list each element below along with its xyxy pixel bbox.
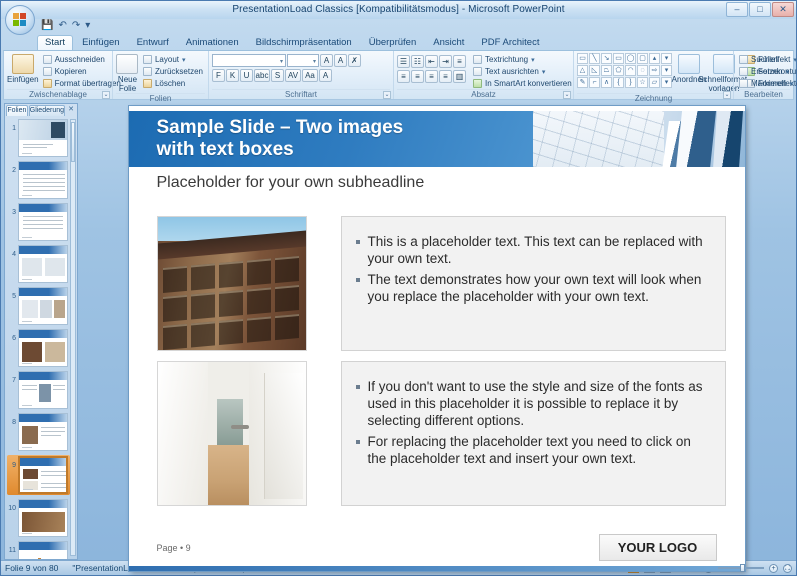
paragraph-dialog-launcher[interactable]: ⌄ <box>563 91 571 99</box>
list-item[interactable]: 1 <box>7 119 70 157</box>
paste-button[interactable]: Einfügen <box>7 53 39 84</box>
list-item[interactable]: 6 <box>7 329 70 367</box>
window-title: PresentationLoad Classics [Kompatibilitä… <box>1 4 796 15</box>
customize-qat-icon[interactable]: ▾ <box>85 20 90 32</box>
numbering-button[interactable]: ☷ <box>411 55 424 68</box>
ribbon: Einfügen Ausschneiden Kopieren Format üb… <box>3 50 794 100</box>
zoom-slider[interactable] <box>718 567 764 569</box>
scrollbar-knob[interactable] <box>71 122 75 162</box>
bullets-button[interactable]: ☰ <box>397 55 410 68</box>
clipboard-dialog-launcher[interactable]: ⌄ <box>102 91 110 99</box>
font-color-button[interactable]: A <box>319 69 332 82</box>
thumbnail-number: 1 <box>7 119 16 132</box>
replace-label: Ersetzen <box>751 67 783 76</box>
arrange-icon <box>678 54 700 74</box>
underline-button[interactable]: U <box>240 69 253 82</box>
shapes-scroll-up-icon[interactable]: ▴ <box>649 53 660 64</box>
window-controls: – □ ✕ <box>726 2 794 17</box>
current-slide[interactable]: Sample Slide – Two images with text boxe… <box>129 106 745 571</box>
copy-icon <box>43 67 52 76</box>
drawing-dialog-launcher[interactable]: ⌄ <box>723 91 731 99</box>
thumbnail-number: 7 <box>7 371 16 384</box>
shapes-gallery-more-icon[interactable]: ▾ <box>661 77 672 88</box>
line-spacing-button[interactable]: ≡ <box>453 55 466 68</box>
delete-icon <box>143 79 152 88</box>
tab-animationen[interactable]: Animationen <box>178 35 247 50</box>
workspace: Folien Gliederung ✕ 1 2 <box>1 100 796 560</box>
align-text-chevron-down-icon: ▾ <box>542 68 546 76</box>
panel-tab-slides[interactable]: Folien <box>6 105 28 116</box>
shape-line-icon[interactable]: ╲ <box>589 53 600 64</box>
logo-placeholder[interactable]: YOUR LOGO <box>599 534 717 561</box>
close-button[interactable]: ✕ <box>772 2 794 17</box>
thumbnail-6[interactable] <box>18 329 68 367</box>
font-group-label: Schriftart <box>212 89 390 99</box>
ribbon-group-drawing: ▭ ╲ ↘ ▭ ◯ ▢ ▴ ▾ △ ◺ ⏢ ⬠ ◠ ◌ ⇨ ▾ ✎ <box>573 51 733 99</box>
decrease-indent-button[interactable]: ⇤ <box>425 55 438 68</box>
shape-block-arrow-icon[interactable]: ⇨ <box>649 65 660 76</box>
font-size-chevron-down-icon: ▾ <box>313 58 316 65</box>
zoom-slider-knob[interactable] <box>740 564 745 572</box>
tab-start[interactable]: Start <box>37 35 73 50</box>
convert-smartart-button[interactable]: In SmartArt konvertieren <box>471 78 574 89</box>
slide-title: Sample Slide – Two images with text boxe… <box>157 117 404 161</box>
image-placeholder-building[interactable] <box>157 216 307 351</box>
clear-formatting-button[interactable]: ✗ <box>348 54 361 67</box>
list-item[interactable]: 7 <box>7 371 70 409</box>
paragraph-group-label: Absatz <box>397 89 570 99</box>
list-item[interactable]: 4 <box>7 245 70 283</box>
bullet-square-icon <box>356 385 360 389</box>
slide-page-number: Page • 9 <box>157 543 191 553</box>
bullet-item: If you don't want to use the style and s… <box>356 378 709 429</box>
text-placeholder-2[interactable]: If you don't want to use the style and s… <box>341 361 726 506</box>
shapes-gallery[interactable]: ▭ ╲ ↘ ▭ ◯ ▢ ▴ ▾ △ ◺ ⏢ ⬠ ◠ ◌ ⇨ ▾ ✎ <box>577 53 672 88</box>
building-windows <box>163 256 299 350</box>
building-shape-2 <box>712 111 743 167</box>
quick-styles-icon <box>713 54 735 74</box>
reset-icon <box>143 67 152 76</box>
cut-label: Ausschneiden <box>55 55 105 64</box>
door-handle <box>231 425 249 429</box>
zoom-in-button[interactable]: + <box>769 564 778 573</box>
shape-angle-icon[interactable]: ∧ <box>601 77 612 88</box>
shape-star-icon[interactable]: ☆ <box>637 77 648 88</box>
shape-rectangle-icon[interactable]: ▭ <box>613 53 624 64</box>
replace-button[interactable]: Ersetzen ▾ <box>737 66 795 77</box>
smartart-icon <box>473 79 482 88</box>
bullet-item: The text demonstrates how your own text … <box>356 271 709 305</box>
thumbnail-7[interactable] <box>18 371 68 409</box>
thumbnail-11[interactable] <box>18 541 68 559</box>
shape-right-triangle-icon[interactable]: ◺ <box>589 65 600 76</box>
panel-tabs: Folien Gliederung ✕ <box>5 104 77 116</box>
tab-ueberpruefen[interactable]: Überprüfen <box>361 35 425 50</box>
shape-brace-left-icon[interactable]: { <box>613 77 624 88</box>
ribbon-group-editing: Suchen Ersetzen ▾ Markieren ▾ Bearbeiten <box>733 51 793 99</box>
thumbnail-number: 4 <box>7 245 16 258</box>
list-item[interactable]: 11 <box>7 541 70 559</box>
shape-trapezoid-icon[interactable]: ⏢ <box>601 65 612 76</box>
italic-button[interactable]: K <box>226 69 239 82</box>
grow-font-button[interactable]: A <box>320 54 333 67</box>
list-item[interactable]: 10 <box>7 499 70 537</box>
delete-label: Löschen <box>155 79 185 88</box>
shape-triangle-icon[interactable]: △ <box>577 65 588 76</box>
bullet-item: For replacing the placeholder text you n… <box>356 433 709 467</box>
ribbon-group-font: ▾ ▾ A A ✗ F K U abc S AV <box>208 51 393 99</box>
new-slide-label: Neue Folie <box>118 75 137 93</box>
shape-banner-icon[interactable]: ▱ <box>649 77 660 88</box>
thumbnail-list[interactable]: 1 2 <box>5 116 77 559</box>
shape-brace-right-icon[interactable]: } <box>625 77 636 88</box>
hallway-left-wall <box>158 362 208 505</box>
slide-header-band: Sample Slide – Two images with text boxe… <box>129 111 745 167</box>
increase-indent-button[interactable]: ⇥ <box>439 55 452 68</box>
paste-label: Einfügen <box>7 75 39 84</box>
delete-slide-button[interactable]: Löschen <box>141 78 205 89</box>
slide-bottom-stripe <box>129 566 745 571</box>
header-blueprint-image <box>533 111 745 167</box>
panel-close-icon[interactable]: ✕ <box>66 105 76 116</box>
shape-textbox-icon[interactable]: ▭ <box>577 53 588 64</box>
shape-freeform-icon[interactable]: ✎ <box>577 77 588 88</box>
replace-chevron-down-icon: ▾ <box>786 68 790 76</box>
slide-subheadline[interactable]: Placeholder for your own subheadline <box>157 174 425 192</box>
tab-einfuegen[interactable]: Einfügen <box>74 35 128 50</box>
slide-counter: Folie 9 von 80 <box>5 563 58 573</box>
text-direction-chevron-down-icon: ▾ <box>531 56 535 64</box>
bullet-text: If you don't want to use the style and s… <box>368 378 709 429</box>
shape-rounded-rect-icon[interactable]: ▢ <box>637 53 648 64</box>
find-button[interactable]: Suchen <box>737 54 795 65</box>
scissors-icon <box>43 55 52 64</box>
undo-icon[interactable]: ↶ <box>58 20 66 32</box>
new-slide-button[interactable]: Neue Folie <box>116 53 139 93</box>
editing-group-label: Bearbeiten <box>737 89 790 99</box>
thumbnail-scrollbar[interactable] <box>70 119 76 556</box>
slide-thumbnail-panel: Folien Gliederung ✕ 1 2 <box>4 103 78 560</box>
panel-tab-outline[interactable]: Gliederung <box>29 105 65 116</box>
maximize-button[interactable]: □ <box>749 2 771 17</box>
list-item[interactable]: 3 <box>7 203 70 241</box>
thumbnail-3[interactable] <box>18 203 68 241</box>
search-icon <box>739 55 748 64</box>
bullet-item: This is a placeholder text. This text ca… <box>356 233 709 267</box>
clipboard-group-label: Zwischenablage <box>7 89 109 99</box>
bold-button[interactable]: F <box>212 69 225 82</box>
layout-button[interactable]: Layout ▾ <box>141 54 205 65</box>
thumbnail-number: 5 <box>7 287 16 300</box>
font-dialog-launcher[interactable]: ⌄ <box>383 91 391 99</box>
quick-access-toolbar: 💾 ↶ ↷ ▾ <box>41 20 90 32</box>
list-item[interactable]: 2 <box>7 161 70 199</box>
convert-smartart-label: In SmartArt konvertieren <box>485 79 572 88</box>
font-name-input[interactable]: ▾ <box>212 54 286 67</box>
columns-button[interactable]: ▥ <box>453 70 466 83</box>
shapes-expand-icon[interactable]: ▾ <box>661 65 672 76</box>
select-chevron-down-icon: ▾ <box>790 80 794 88</box>
justify-button[interactable]: ≡ <box>439 70 452 83</box>
align-center-button[interactable]: ≡ <box>411 70 424 83</box>
image-placeholder-hallway[interactable] <box>157 361 307 506</box>
align-text-label: Text ausrichten <box>485 67 539 76</box>
bullet-text: For replacing the placeholder text you n… <box>368 433 709 467</box>
fit-to-window-button[interactable]: ⛶ <box>783 564 792 573</box>
thumbnail-4[interactable] <box>18 245 68 283</box>
bullet-square-icon <box>356 240 360 244</box>
list-item-selected[interactable]: 9 <box>7 455 70 495</box>
minimize-button[interactable]: – <box>726 2 748 17</box>
shape-curve-icon[interactable]: ⌐ <box>589 77 600 88</box>
shape-pentagon-icon[interactable]: ⬠ <box>613 65 624 76</box>
new-slide-icon <box>116 54 138 74</box>
tab-entwurf[interactable]: Entwurf <box>129 35 177 50</box>
slide-title-banner[interactable]: Sample Slide – Two images with text boxe… <box>129 111 533 167</box>
font-size-input[interactable]: ▾ <box>287 54 319 67</box>
replace-icon <box>739 67 748 76</box>
text-direction-button[interactable]: Textrichtung ▾ <box>471 54 574 65</box>
tab-bildschirmpraesentation[interactable]: Bildschirmpräsentation <box>248 35 360 50</box>
redo-icon[interactable]: ↷ <box>72 20 80 32</box>
bullet-text: The text demonstrates how your own text … <box>368 271 709 305</box>
thumbnail-9-current[interactable] <box>18 456 68 494</box>
thumbnail-5[interactable] <box>18 287 68 325</box>
select-button[interactable]: Markieren ▾ <box>737 78 795 89</box>
thumbnail-number: 9 <box>7 456 16 469</box>
reset-label: Zurücksetzen <box>155 67 203 76</box>
text-direction-icon <box>473 55 482 64</box>
ribbon-group-paragraph: ☰ ☷ ⇤ ⇥ ≡ ≡ ≡ ≡ ≡ ▥ <box>393 51 573 99</box>
tab-ansicht[interactable]: Ansicht <box>425 35 472 50</box>
thumbnail-number: 3 <box>7 203 16 216</box>
text-shadow-button[interactable]: S <box>271 69 284 82</box>
copy-button[interactable]: Kopieren <box>41 66 123 77</box>
align-left-button[interactable]: ≡ <box>397 70 410 83</box>
shape-cylinder-icon[interactable]: ◌ <box>637 65 648 76</box>
text-placeholder-1[interactable]: This is a placeholder text. This text ca… <box>341 216 726 351</box>
thumbnail-number: 2 <box>7 161 16 174</box>
blueprint-pattern <box>533 111 664 167</box>
select-icon <box>739 79 748 88</box>
building-shape-1 <box>675 111 716 167</box>
format-painter-button[interactable]: Format übertragen <box>41 78 123 89</box>
ribbon-group-slides: Neue Folie Layout ▾ Zurücksetzen Löschen <box>112 51 208 99</box>
thumbnail-number: 11 <box>7 541 16 554</box>
text-direction-label: Textrichtung <box>485 55 528 64</box>
character-spacing-button[interactable]: AV <box>285 69 301 82</box>
align-right-button[interactable]: ≡ <box>425 70 438 83</box>
layout-icon <box>143 55 152 64</box>
find-label: Suchen <box>751 55 778 64</box>
shapes-more-icon[interactable]: ▾ <box>661 53 672 64</box>
layout-label: Layout <box>155 55 179 64</box>
powerpoint-window: PresentationLoad Classics [Kompatibilitä… <box>0 0 797 576</box>
cut-button[interactable]: Ausschneiden <box>41 54 123 65</box>
bullet-square-icon <box>356 440 360 444</box>
shrink-font-button[interactable]: A <box>334 54 347 67</box>
slide-editing-area: Sample Slide – Two images with text boxe… <box>80 103 793 560</box>
change-case-button[interactable]: Aa <box>302 69 318 82</box>
thumbnail-2[interactable] <box>18 161 68 199</box>
list-item[interactable]: 8 <box>7 413 70 451</box>
thumbnail-number: 10 <box>7 499 16 512</box>
hallway-door <box>264 373 302 499</box>
strikethrough-button[interactable]: abc <box>254 69 270 82</box>
ribbon-group-clipboard: Einfügen Ausschneiden Kopieren Format üb… <box>4 51 112 99</box>
thumbnail-number: 8 <box>7 413 16 426</box>
shape-oval-icon[interactable]: ◯ <box>625 53 636 64</box>
thumbnail-8[interactable] <box>18 413 68 451</box>
tab-pdf-architect[interactable]: PDF Architect <box>473 35 547 50</box>
quick-access-toolbar-row: 💾 ↶ ↷ ▾ <box>1 19 796 35</box>
thumbnail-10[interactable] <box>18 499 68 537</box>
select-label: Markieren <box>751 79 787 88</box>
bullet-text: This is a placeholder text. This text ca… <box>368 233 709 267</box>
save-icon[interactable]: 💾 <box>41 20 53 32</box>
font-name-chevron-down-icon: ▾ <box>280 58 283 65</box>
office-logo-icon <box>13 13 28 28</box>
align-text-button[interactable]: Text ausrichten ▾ <box>471 66 574 77</box>
thumbnail-1[interactable] <box>18 119 68 157</box>
format-painter-label: Format übertragen <box>55 79 121 88</box>
ribbon-tabs: Start Einfügen Entwurf Animationen Bilds… <box>1 35 796 50</box>
paintbrush-icon <box>43 79 52 88</box>
layout-chevron-down-icon: ▾ <box>182 56 186 64</box>
drawing-group-label: Zeichnung <box>577 93 730 103</box>
list-item[interactable]: 5 <box>7 287 70 325</box>
align-text-icon <box>473 67 482 76</box>
shape-arc-icon[interactable]: ◠ <box>625 65 636 76</box>
shape-arrow-icon[interactable]: ↘ <box>601 53 612 64</box>
slides-group-label: Folien <box>116 93 205 103</box>
paste-icon <box>12 54 34 74</box>
bullet-square-icon <box>356 278 360 282</box>
office-button[interactable] <box>5 5 35 35</box>
thumbnail-number: 6 <box>7 329 16 342</box>
copy-label: Kopieren <box>55 67 87 76</box>
reset-button[interactable]: Zurücksetzen <box>141 66 205 77</box>
title-bar: PresentationLoad Classics [Kompatibilitä… <box>1 1 796 19</box>
